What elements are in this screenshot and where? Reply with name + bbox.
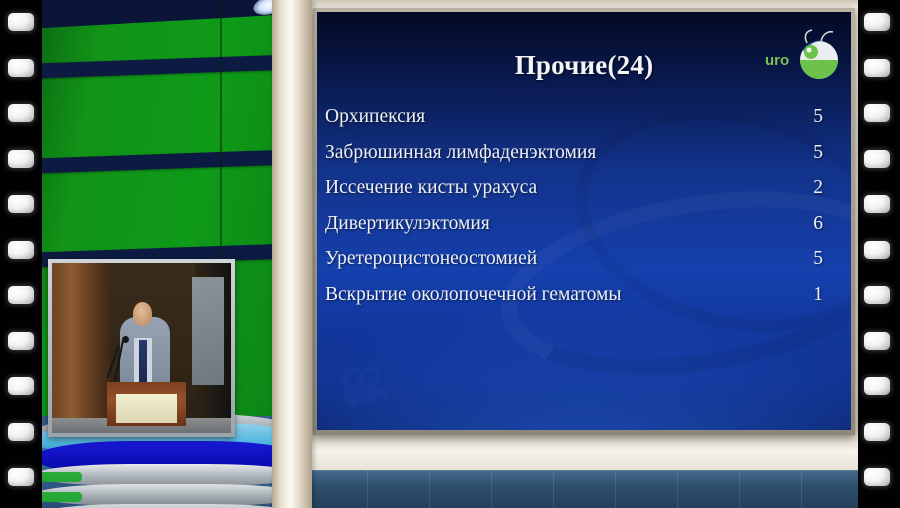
wall-tile [305,470,368,508]
wall-tile [677,470,740,508]
broadcast-frame: Прочие(24) uro Орхипексия5Забрюшинная ли… [0,0,900,508]
slide-list-row: Уретероцистонеостомией5 [325,248,835,284]
desk-silver-band [34,504,304,508]
film-sprocket-hole-icon [864,104,890,122]
beetle-antenna-icon [821,32,833,41]
presentation-slide: Прочие(24) uro Орхипексия5Забрюшинная ли… [317,12,851,430]
wall-tile [367,470,430,508]
film-sprocket-hole-icon [8,377,34,395]
desk-green-accent [36,472,82,482]
beetle-eye-highlight [807,48,812,53]
wall-panel-seam [220,0,222,260]
slide-row-value: 1 [813,284,835,306]
film-sprocket-hole-icon [864,423,890,441]
slide-list: Орхипексия5Забрюшинная лимфаденэктомия5И… [325,106,835,319]
slide-list-row: Вскрытие околопочечной гематомы1 [325,284,835,320]
film-sprocket-hole-icon [8,332,34,350]
wall-tile-band [305,470,860,508]
filmstrip-left [0,0,42,508]
slide-list-row: Иссечение кисты урахуса2 [325,177,835,213]
beetle-mascot-icon: uro [763,27,849,85]
filmstrip-right [858,0,900,508]
podium-front-panel [116,394,177,423]
film-sprocket-hole-icon [864,13,890,31]
film-sprocket-hole-icon [8,468,34,486]
slide-row-value: 6 [813,213,835,235]
film-sprocket-hole-icon [864,150,890,168]
uro-logo-text: uro [765,52,789,69]
slide-list-row: Забрюшинная лимфаденэктомия5 [325,142,835,178]
wall-tile [801,470,860,508]
slide-row-value: 5 [813,248,835,270]
slide-row-label: Вскрытие околопочечной гематомы [325,284,621,306]
wall-tile [739,470,802,508]
wall-tile [615,470,678,508]
stage-projection-screen [192,277,224,386]
speaker-tie [139,340,147,383]
film-sprocket-hole-icon [864,195,890,213]
uro-logo: uro [763,27,849,85]
film-sprocket-hole-icon [864,468,890,486]
film-sprocket-hole-icon [864,377,890,395]
slide-row-label: Забрюшинная лимфаденэктомия [325,142,596,164]
film-sprocket-hole-icon [864,241,890,259]
stage-curtain-left [52,263,111,433]
film-sprocket-hole-icon [864,59,890,77]
film-sprocket-hole-icon [864,332,890,350]
speaker-video-inset[interactable] [48,259,235,437]
desk-green-accent [36,492,82,502]
slide-row-label: Дивертикулэктомия [325,213,490,235]
beetle-lower-shell [800,60,838,79]
wall-stripe [42,52,305,80]
film-sprocket-hole-icon [8,150,34,168]
speaker-head [133,302,153,326]
slide-list-row: Орхипексия5 [325,106,835,142]
film-sprocket-hole-icon [8,423,34,441]
film-camera-icon [339,366,391,408]
film-sprocket-hole-icon [8,286,34,304]
film-sprocket-hole-icon [864,286,890,304]
film-sprocket-hole-icon [8,104,34,122]
slide-list-row: Дивертикулэктомия6 [325,213,835,249]
slide-row-value: 5 [813,142,835,164]
slide-row-value: 2 [813,177,835,199]
wall-stripe [42,147,305,175]
slide-row-label: Иссечение кисты урахуса [325,177,537,199]
wall-tile [429,470,492,508]
slide-row-label: Уретероцистонеостомией [325,248,537,270]
film-sprocket-hole-icon [8,195,34,213]
film-sprocket-hole-icon [8,13,34,31]
speaker-video-frame [52,263,231,433]
film-sprocket-hole-icon [8,241,34,259]
wall-tile [553,470,616,508]
slide-row-value: 5 [813,106,835,128]
auditorium-pillar [272,0,312,508]
film-sprocket-hole-icon [8,59,34,77]
beetle-eye-icon [804,45,818,59]
wall-tile [491,470,554,508]
wall-lower-molding [305,430,860,470]
presentation-slide-frame[interactable]: Прочие(24) uro Орхипексия5Забрюшинная ли… [313,8,855,435]
beetle-antenna-icon [805,30,812,43]
microphone-capsule-icon [122,336,129,343]
slide-row-label: Орхипексия [325,106,425,128]
